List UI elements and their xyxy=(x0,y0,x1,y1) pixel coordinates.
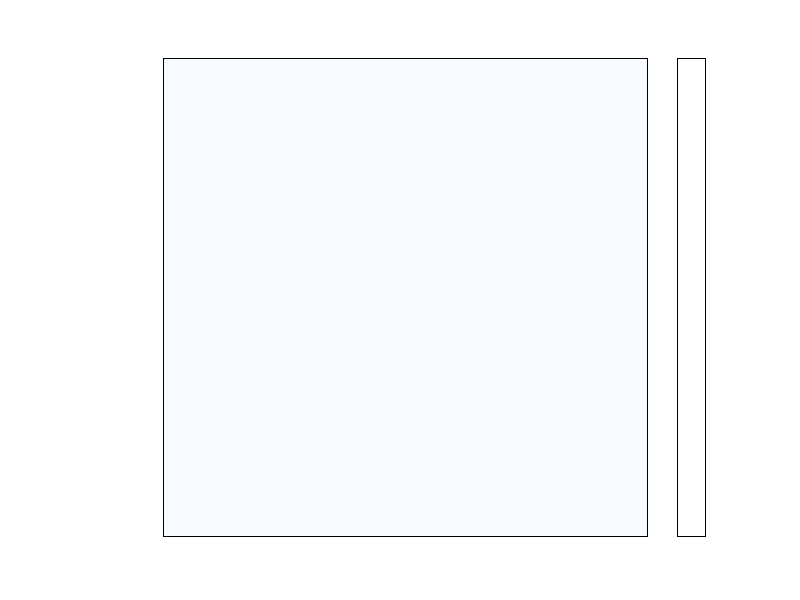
colorbar-gradient xyxy=(678,59,705,536)
heatmap-axes[interactable] xyxy=(163,58,648,537)
figure-canvas xyxy=(0,0,800,600)
colorbar-axes[interactable] xyxy=(677,58,706,537)
heatmap-cells[interactable] xyxy=(164,59,647,536)
